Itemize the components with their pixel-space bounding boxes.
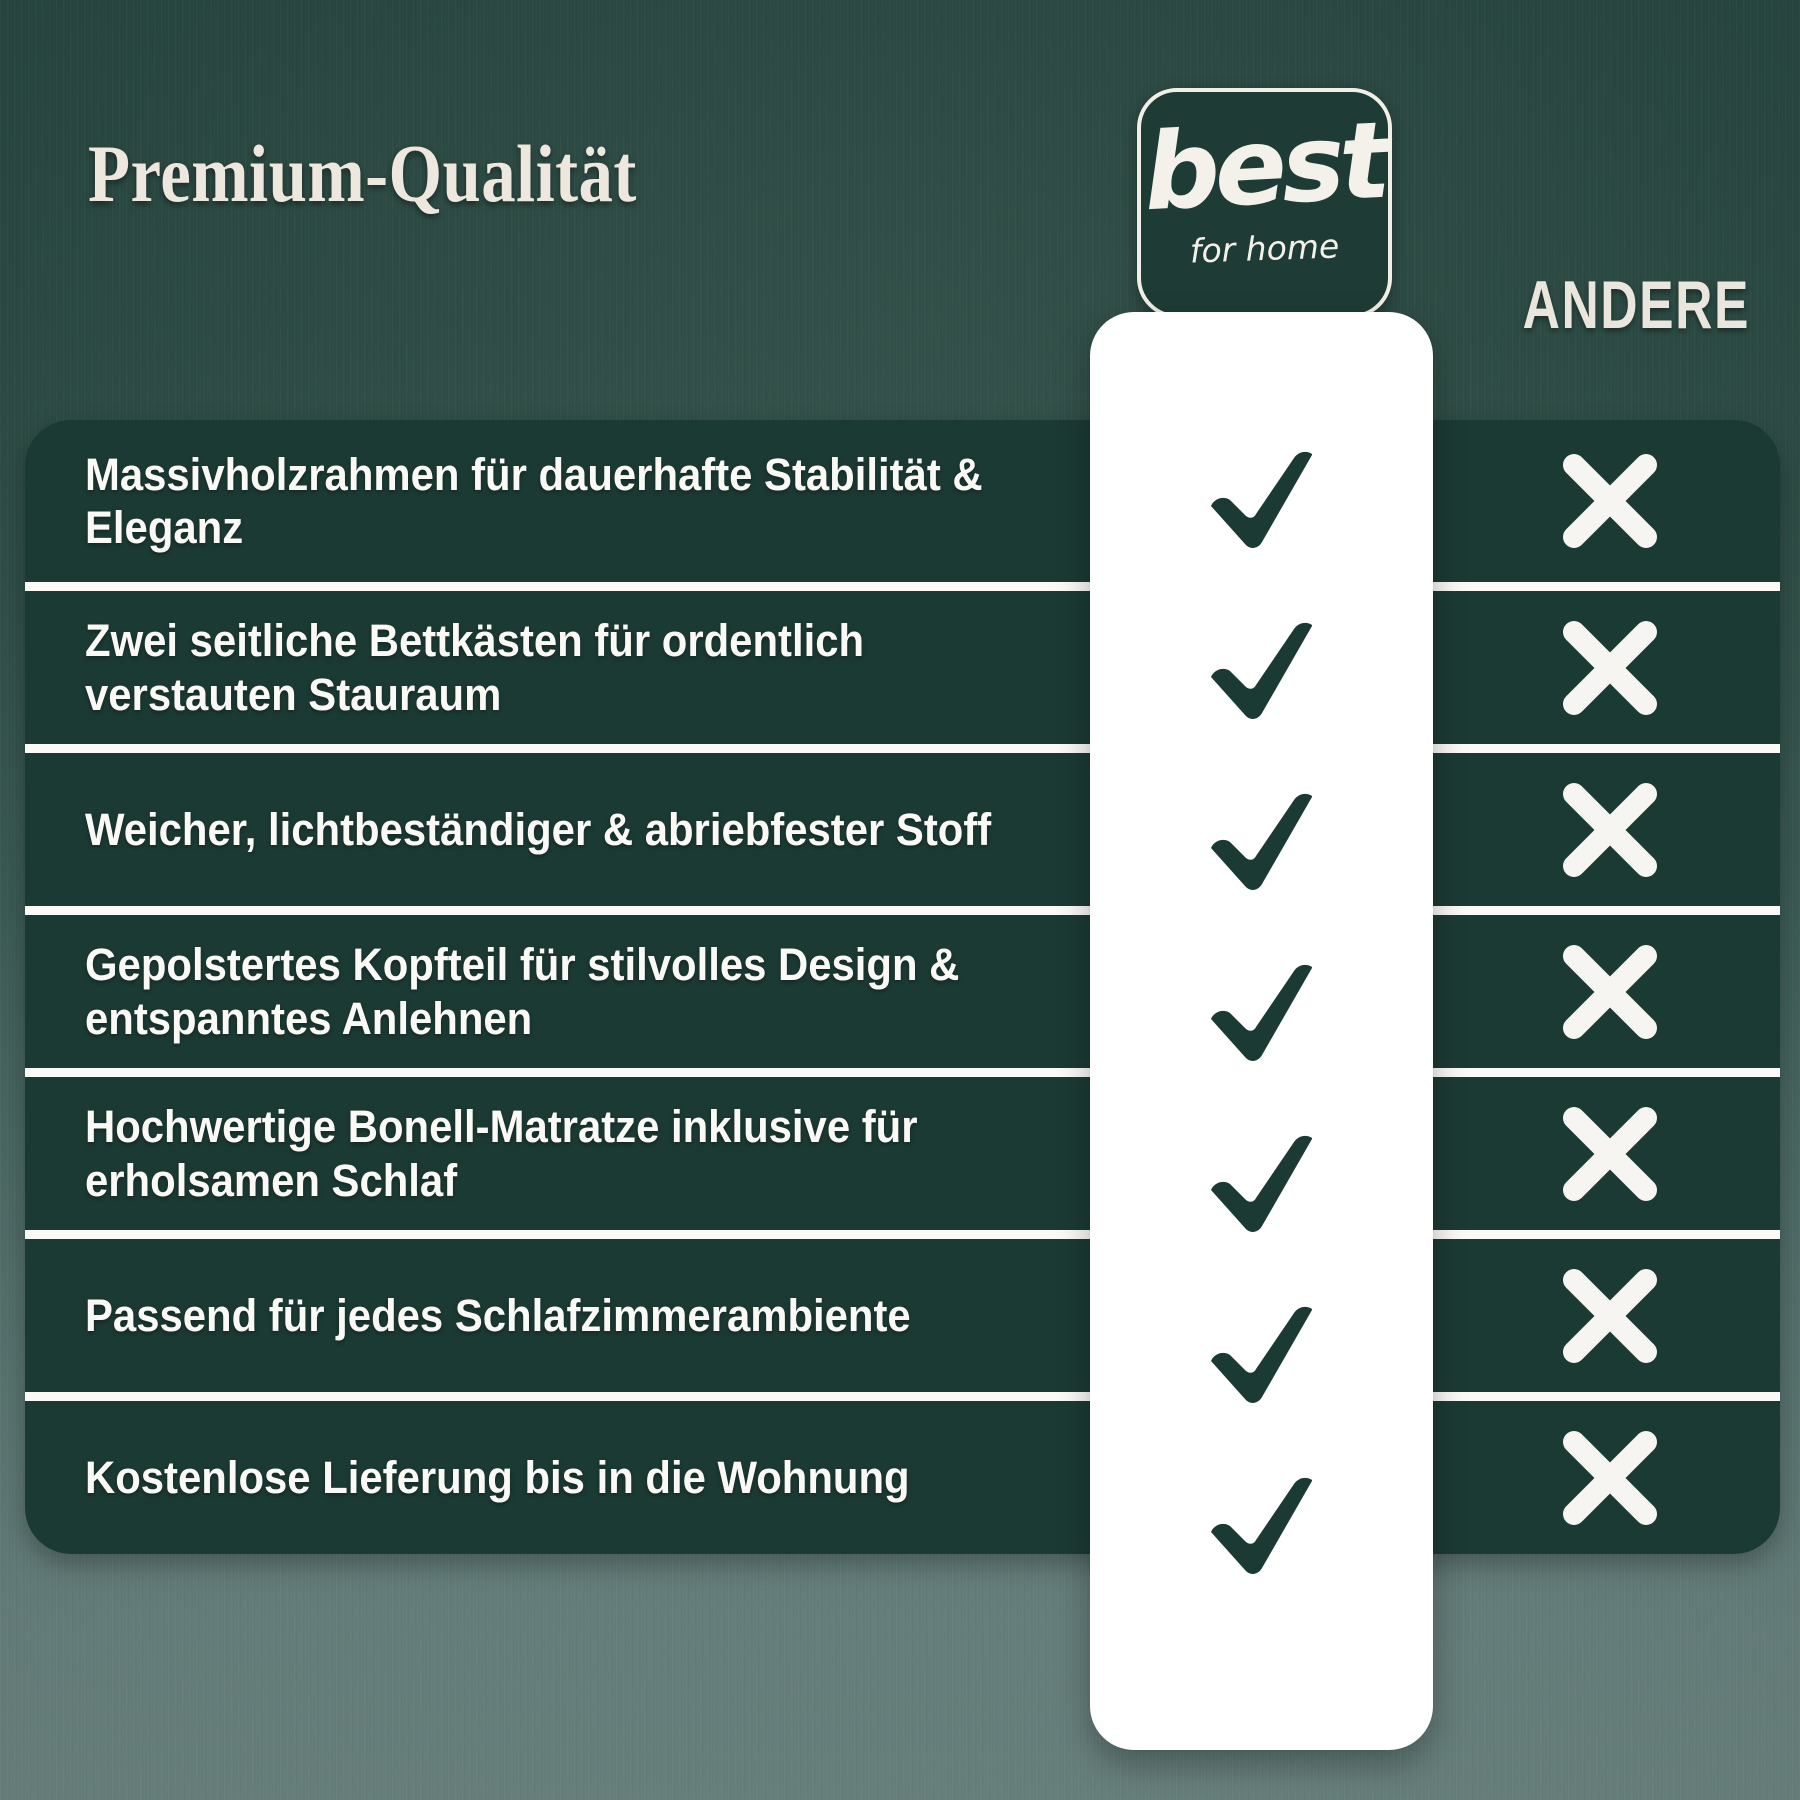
cross-icon [1554,445,1666,557]
others-cell [1440,753,1780,906]
feature-cell: Gepolstertes Kopfteil für stilvolles Des… [25,915,1088,1068]
others-cell [1440,1077,1780,1230]
feature-label: Hochwertige Bonell-Matratze inklusive fü… [85,1100,994,1206]
check-cell [1090,1104,1433,1266]
cross-icon [1554,774,1666,886]
competitor-column-header: ANDERE [1523,271,1736,339]
check-icon [1198,1472,1326,1582]
table-row: Passend für jedes Schlafzimmerambiente [25,1230,1780,1392]
feature-cell: Zwei seitliche Bettkästen für ordentlich… [25,591,1088,744]
cross-icon [1554,1098,1666,1210]
others-cell [1440,1401,1780,1554]
others-cell [1440,420,1780,582]
feature-label: Gepolstertes Kopfteil für stilvolles Des… [85,938,994,1044]
others-cell [1440,1239,1780,1392]
feature-cell: Hochwertige Bonell-Matratze inklusive fü… [25,1077,1088,1230]
table-row: Zwei seitliche Bettkästen für ordentlich… [25,582,1780,744]
cross-icon [1554,1422,1666,1534]
feature-label: Zwei seitliche Bettkästen für ordentlich… [85,614,994,720]
table-row: Weicher, lichtbeständiger & abriebfester… [25,744,1780,906]
cross-icon [1554,1260,1666,1372]
feature-cell: Passend für jedes Schlafzimmerambiente [25,1239,1088,1392]
check-cell [1090,762,1433,924]
check-icon [1198,1130,1326,1240]
check-icon [1198,788,1326,898]
feature-cell: Kostenlose Lieferung bis in die Wohnung [25,1401,1088,1554]
brand-logo: best for home [1137,88,1392,318]
logo-tagline-text: for home [1140,228,1388,270]
check-icon [1198,1301,1326,1411]
table-row: Massivholzrahmen für dauerhafte Stabilit… [25,420,1780,582]
check-icon [1198,959,1326,1069]
comparison-table: Massivholzrahmen für dauerhafte Stabilit… [25,420,1780,1554]
feature-label: Weicher, lichtbeständiger & abriebfester… [85,803,991,856]
check-icon [1198,617,1326,727]
feature-label: Massivholzrahmen für dauerhafte Stabilit… [85,448,994,554]
check-cell [1090,420,1433,582]
others-cell [1440,591,1780,744]
check-cell [1090,591,1433,753]
page-title: Premium-Qualität [88,133,637,215]
feature-label: Kostenlose Lieferung bis in die Wohnung [85,1451,910,1504]
check-cell [1090,1446,1433,1608]
check-cell [1090,933,1433,1095]
best-column-checkmarks [1090,420,1433,1608]
cross-icon [1554,936,1666,1048]
table-row: Gepolstertes Kopfteil für stilvolles Des… [25,906,1780,1068]
others-cell [1440,915,1780,1068]
logo-brand-text: best [1138,108,1390,227]
feature-cell: Weicher, lichtbeständiger & abriebfester… [25,753,1088,906]
table-row: Kostenlose Lieferung bis in die Wohnung [25,1392,1780,1554]
table-row: Hochwertige Bonell-Matratze inklusive fü… [25,1068,1780,1230]
cross-icon [1554,612,1666,724]
comparison-infographic: Premium-Qualität best for home ANDERE Ma… [0,0,1800,1800]
check-icon [1198,446,1326,556]
feature-label: Passend für jedes Schlafzimmerambiente [85,1289,911,1342]
feature-cell: Massivholzrahmen für dauerhafte Stabilit… [25,420,1088,582]
check-cell [1090,1275,1433,1437]
